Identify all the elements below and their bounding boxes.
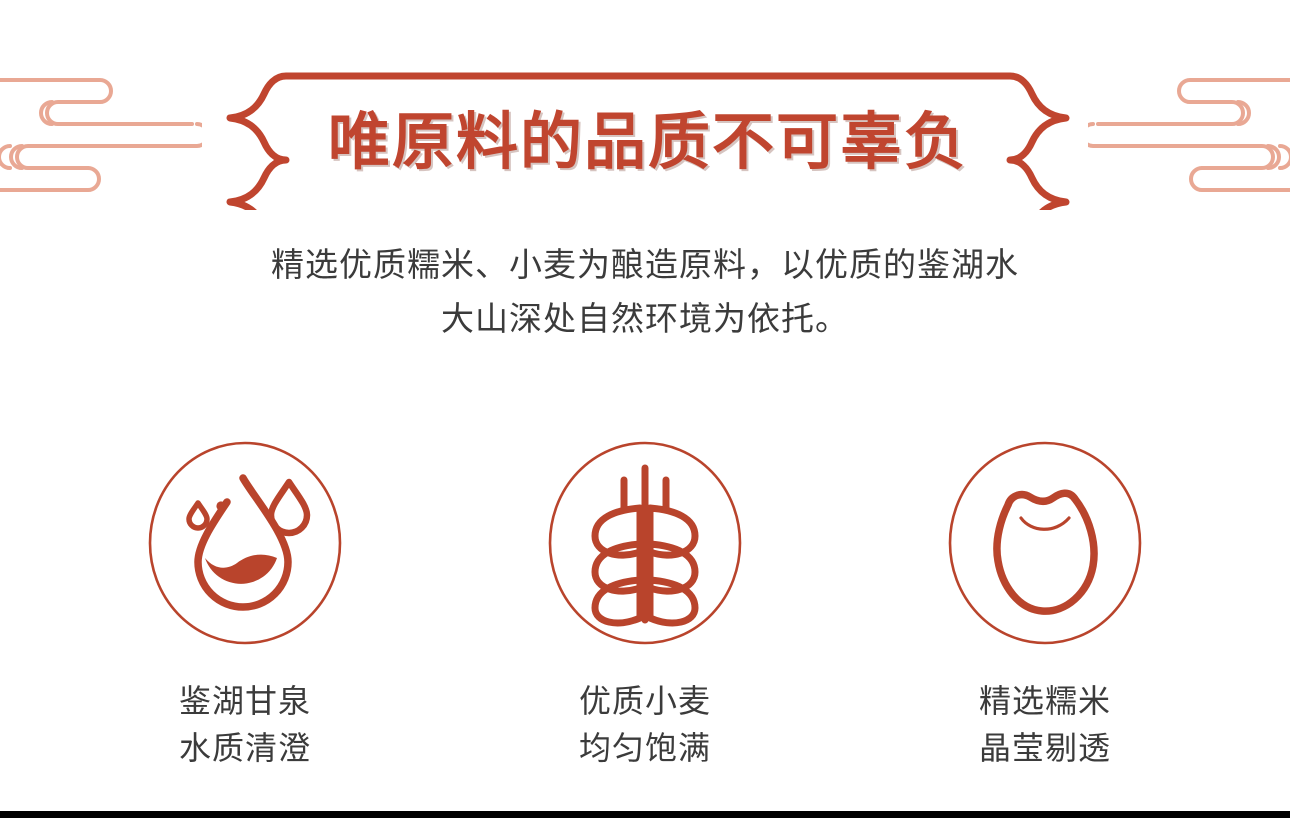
- subtitle-line-1: 精选优质糯米、小麦为酿造原料，以优质的鉴湖水: [0, 238, 1290, 292]
- feature-label-rice: 精选糯米 晶莹剔透: [979, 678, 1111, 772]
- water-drop-icon: [145, 440, 345, 650]
- cloud-pattern-right-icon: [1088, 60, 1290, 210]
- rice-grain-icon: [945, 440, 1145, 650]
- title-banner: 唯原料的品质不可辜负: [216, 62, 1080, 210]
- bottom-bar: [0, 811, 1290, 818]
- feature-label-wheat: 优质小麦 均匀饱满: [579, 678, 711, 772]
- feature-label-water-line-1: 鉴湖甘泉: [179, 678, 311, 725]
- page-title: 唯原料的品质不可辜负: [216, 62, 1080, 210]
- cloud-pattern-left-icon: [0, 60, 202, 210]
- feature-label-water-line-2: 水质清澄: [179, 725, 311, 772]
- feature-item-rice: 精选糯米 晶莹剔透: [845, 440, 1245, 772]
- feature-label-wheat-line-2: 均匀饱满: [579, 725, 711, 772]
- feature-label-rice-line-2: 晶莹剔透: [979, 725, 1111, 772]
- feature-item-wheat: 优质小麦 均匀饱满: [445, 440, 845, 772]
- wheat-icon: [545, 440, 745, 650]
- feature-list: 鉴湖甘泉 水质清澄: [0, 440, 1290, 772]
- feature-label-rice-line-1: 精选糯米: [979, 678, 1111, 725]
- subtitle-line-2: 大山深处自然环境为依托。: [0, 292, 1290, 346]
- feature-label-wheat-line-1: 优质小麦: [579, 678, 711, 725]
- feature-item-water: 鉴湖甘泉 水质清澄: [45, 440, 445, 772]
- feature-label-water: 鉴湖甘泉 水质清澄: [179, 678, 311, 772]
- page-root: 唯原料的品质不可辜负 精选优质糯米、小麦为酿造原料，以优质的鉴湖水 大山深处自然…: [0, 0, 1290, 818]
- subtitle: 精选优质糯米、小麦为酿造原料，以优质的鉴湖水 大山深处自然环境为依托。: [0, 238, 1290, 346]
